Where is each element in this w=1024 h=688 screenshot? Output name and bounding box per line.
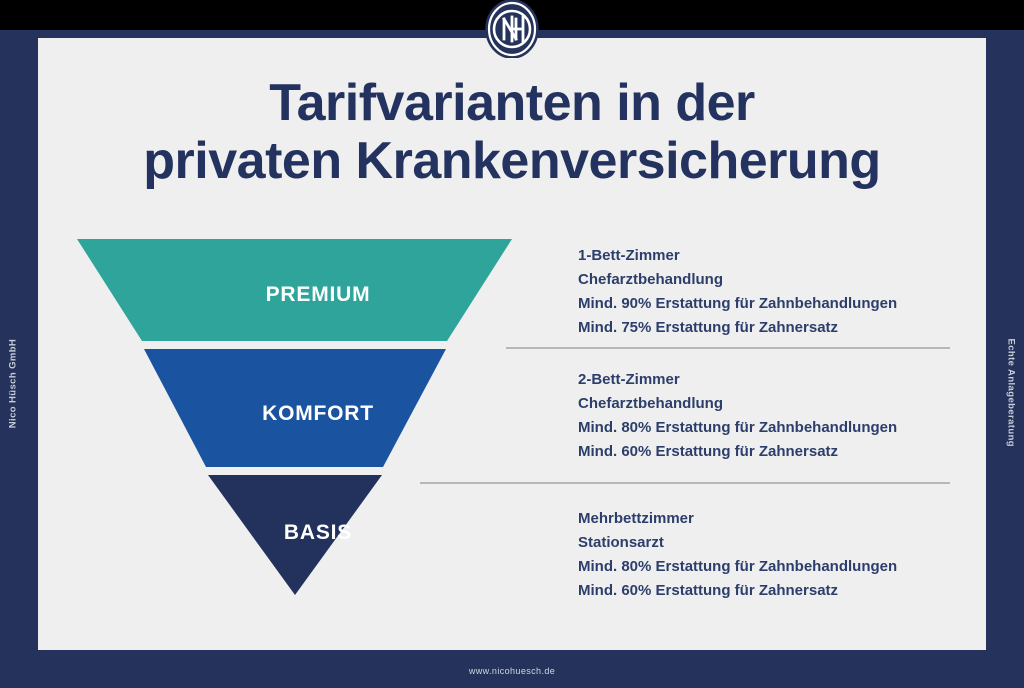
detail-line: Mind. 60% Erstattung für Zahnersatz xyxy=(578,440,897,464)
nh-monogram-logo xyxy=(482,0,542,58)
detail-divider-1 xyxy=(506,347,950,349)
page-title-line-1: Tarifvarianten in der xyxy=(60,74,964,132)
side-label-company: Nico Hüsch GmbH xyxy=(8,339,19,429)
detail-block-premium: 1-Bett-Zimmer Chefarztbehandlung Mind. 9… xyxy=(578,244,897,340)
detail-line: Mind. 75% Erstattung für Zahnersatz xyxy=(578,316,897,340)
detail-line: Chefarztbehandlung xyxy=(578,268,897,292)
detail-line: Mind. 80% Erstattung für Zahnbehandlunge… xyxy=(578,416,897,440)
detail-line: 1-Bett-Zimmer xyxy=(578,244,897,268)
detail-block-komfort: 2-Bett-Zimmer Chefarztbehandlung Mind. 8… xyxy=(578,368,897,464)
detail-line: Mind. 80% Erstattung für Zahnbehandlunge… xyxy=(578,555,897,579)
side-label-tagline: Echte Anlageberatung xyxy=(1006,339,1017,429)
detail-line: Mehrbettzimmer xyxy=(578,507,897,531)
detail-line: 2-Bett-Zimmer xyxy=(578,368,897,392)
page-title: Tarifvarianten in der privaten Krankenve… xyxy=(60,74,964,190)
detail-line: Mind. 90% Erstattung für Zahnbehandlunge… xyxy=(578,292,897,316)
funnel-label-premium: PREMIUM xyxy=(168,283,468,307)
detail-line: Chefarztbehandlung xyxy=(578,392,897,416)
slide-canvas: Nico Hüsch GmbH Echte Anlageberatung www… xyxy=(0,0,1024,688)
detail-line: Stationsarzt xyxy=(578,531,897,555)
funnel-label-komfort: KOMFORT xyxy=(168,402,468,426)
detail-line: Mind. 60% Erstattung für Zahnersatz xyxy=(578,579,897,603)
detail-block-basis: Mehrbettzimmer Stationsarzt Mind. 80% Er… xyxy=(578,507,897,603)
footer-url: www.nicohuesch.de xyxy=(0,666,1024,676)
detail-divider-2 xyxy=(420,482,950,484)
page-title-line-2: privaten Krankenversicherung xyxy=(60,132,964,190)
funnel-label-basis: BASIS xyxy=(168,521,468,545)
